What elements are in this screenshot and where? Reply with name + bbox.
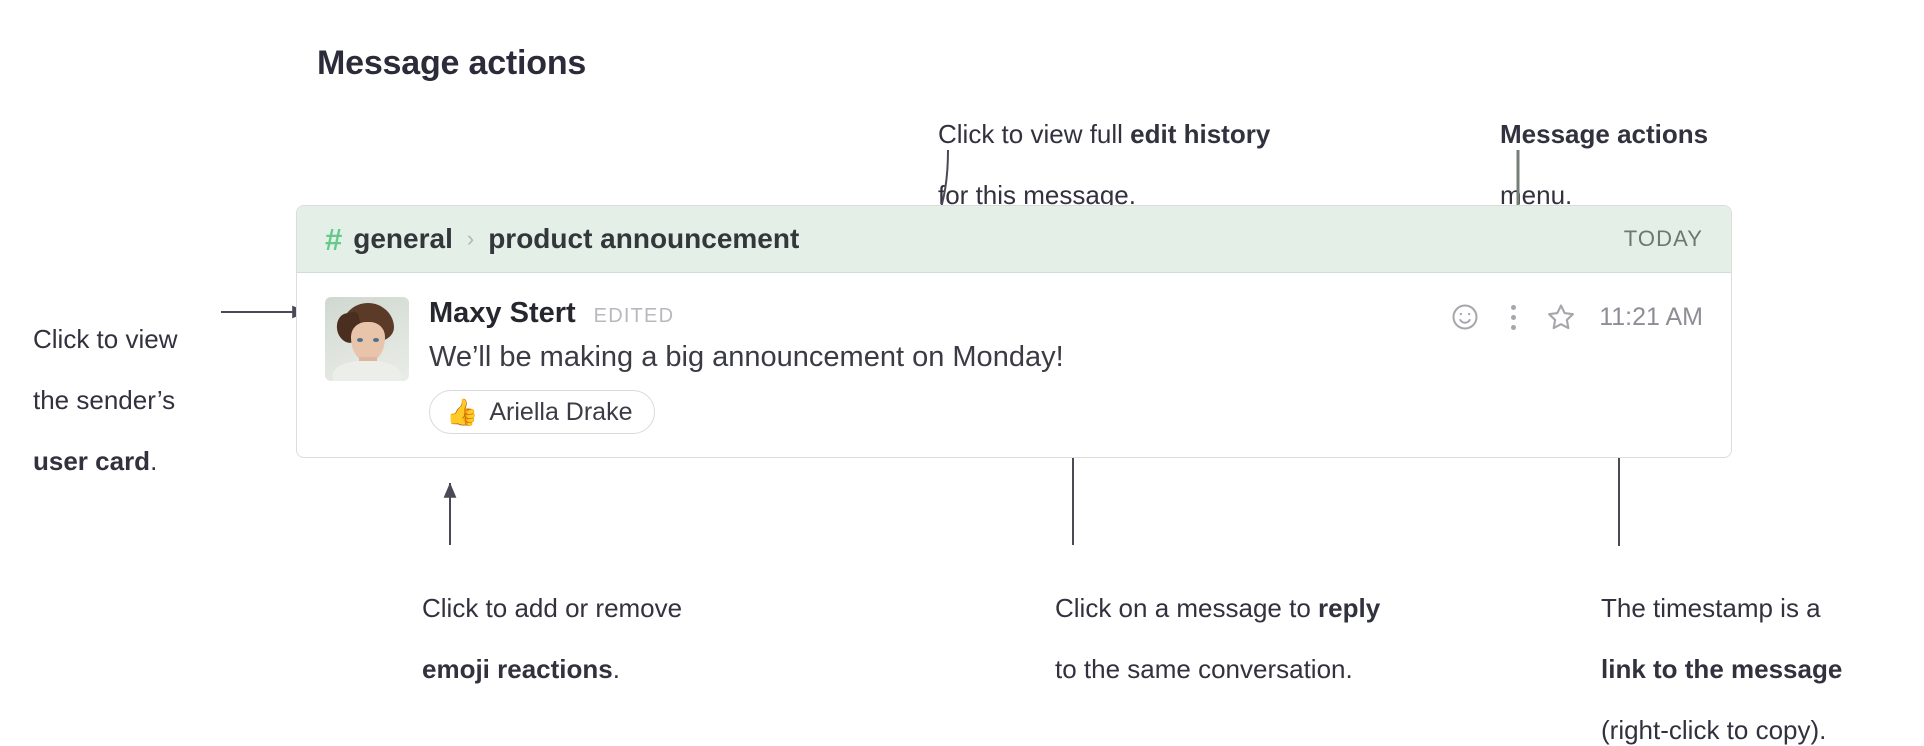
- dot-middle: [1511, 315, 1516, 320]
- avatar-shirt: [333, 361, 401, 381]
- annotation-timestamp-line3: (right-click to copy).: [1601, 715, 1826, 745]
- message-action-bar: 11:21 AM: [1441, 297, 1703, 337]
- annotation-emoji-reactions-line1: Click to add or remove: [422, 593, 682, 623]
- avatar-eye-left: [357, 338, 363, 342]
- message-actions-menu-icon[interactable]: [1489, 297, 1537, 337]
- annotation-timestamp-line1: The timestamp is a: [1601, 593, 1821, 623]
- annotation-reply-line1-plain: Click on a message to: [1055, 593, 1318, 623]
- channel-name[interactable]: general: [353, 223, 453, 255]
- hash-icon: #: [325, 224, 342, 255]
- message-row[interactable]: Maxy Stert EDITED We’ll be making a big …: [297, 273, 1731, 434]
- message-timestamp-link[interactable]: 11:21 AM: [1599, 303, 1703, 332]
- annotation-edit-history-line1-plain: Click to view full: [938, 119, 1130, 149]
- dot-bottom: [1511, 325, 1516, 330]
- annotation-timestamp-line2-bold: link to the message: [1601, 654, 1842, 684]
- star-message-icon[interactable]: [1537, 297, 1585, 337]
- annotation-user-card-line3-bold: user card: [33, 446, 150, 476]
- annotation-actions-menu: Message actions menu.: [1500, 88, 1708, 211]
- reaction-user-name: Ariella Drake: [489, 398, 632, 427]
- annotation-user-card-line2: the sender’s: [33, 385, 175, 415]
- annotation-edit-history-line1-bold: edit history: [1130, 119, 1270, 149]
- annotation-reply-line2: to the same conversation.: [1055, 654, 1353, 684]
- figure-canvas: Message actions Click to view full edit …: [0, 0, 1924, 696]
- avatar[interactable]: [325, 297, 409, 381]
- message-card: # general › product announcement TODAY M…: [296, 205, 1732, 458]
- annotation-reply-line1-bold: reply: [1318, 593, 1380, 623]
- annotation-emoji-reactions-line2-bold: emoji reactions: [422, 654, 613, 684]
- annotation-user-card-line1: Click to view: [33, 324, 177, 354]
- channel-header: # general › product announcement TODAY: [297, 206, 1731, 273]
- dot-top: [1511, 305, 1516, 310]
- annotation-user-card: Click to view the sender’s user card.: [33, 293, 177, 477]
- add-reaction-icon[interactable]: [1441, 297, 1489, 337]
- reaction-row: 👍 Ariella Drake: [429, 390, 1703, 434]
- date-separator-label: TODAY: [1624, 226, 1703, 252]
- annotation-reply: Click on a message to reply to the same …: [1055, 562, 1380, 685]
- message-text[interactable]: We’ll be making a big announcement on Mo…: [429, 341, 1703, 374]
- thumbs-up-icon: 👍: [446, 399, 478, 425]
- annotation-actions-menu-line1-bold: Message actions: [1500, 119, 1708, 149]
- annotation-user-card-line3-tail: .: [150, 446, 157, 476]
- annotation-timestamp: The timestamp is a link to the message (…: [1601, 562, 1842, 746]
- chevron-right-icon: ›: [467, 228, 474, 250]
- annotation-emoji-reactions-line2-tail: .: [613, 654, 620, 684]
- edited-badge[interactable]: EDITED: [594, 305, 675, 328]
- avatar-face: [351, 322, 385, 362]
- sender-name[interactable]: Maxy Stert: [429, 297, 576, 330]
- avatar-eye-right: [373, 338, 379, 342]
- annotation-emoji-reactions: Click to add or remove emoji reactions.: [422, 562, 682, 685]
- topic-name[interactable]: product announcement: [488, 223, 799, 255]
- page-title: Message actions: [317, 44, 586, 83]
- annotation-edit-history: Click to view full edit history for this…: [938, 88, 1270, 211]
- reaction-chip[interactable]: 👍 Ariella Drake: [429, 390, 655, 434]
